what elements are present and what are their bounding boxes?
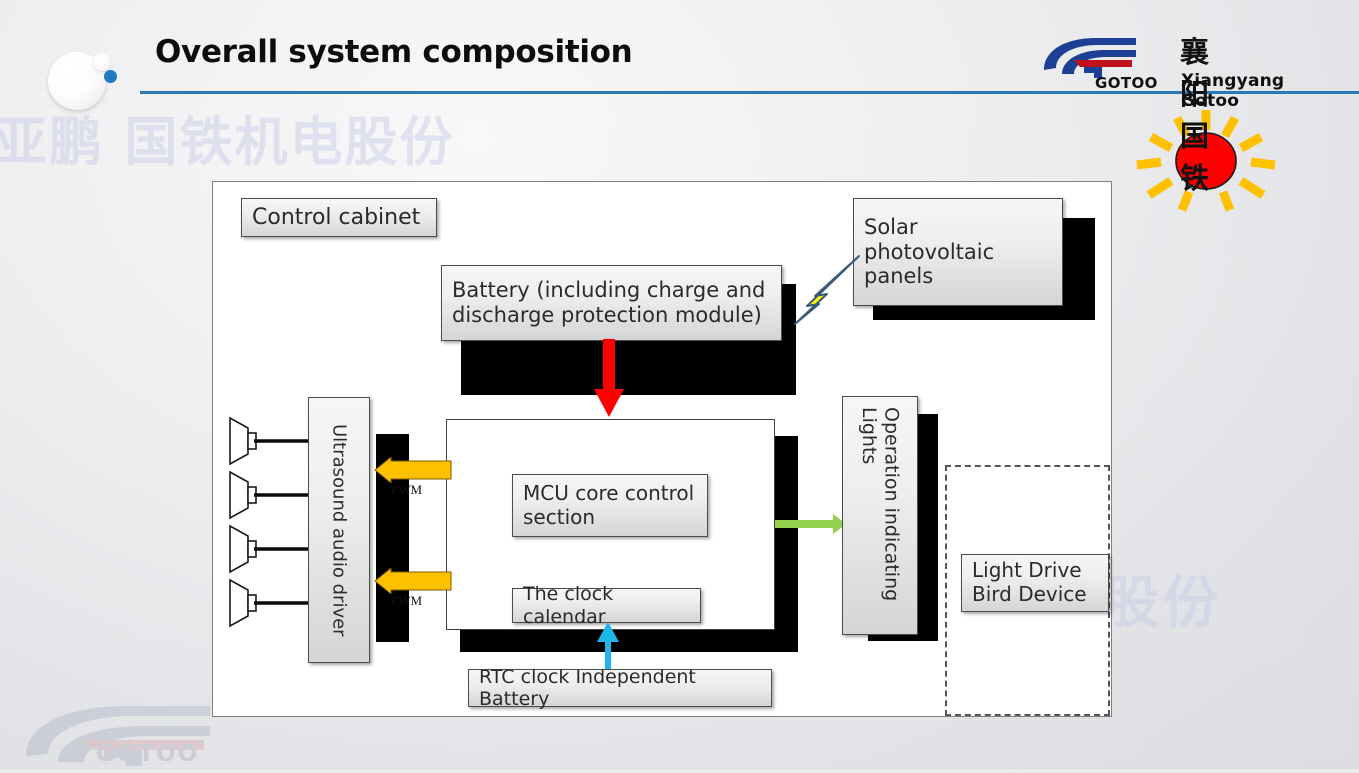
pwm-label-top: PWM — [391, 482, 422, 498]
pwm-arrow-bottom-icon — [373, 568, 453, 594]
decorative-circle-small — [93, 53, 111, 71]
pwm-arrow-top-icon — [373, 457, 453, 483]
light-drive-bird-device-box[interactable]: Light Drive Bird Device — [961, 554, 1109, 612]
lightning-bolt-icon — [783, 254, 865, 340]
battery-to-mcu-arrow-icon — [593, 339, 625, 419]
battery-label: Battery (including charge and discharge … — [442, 278, 781, 328]
clock-calendar-box[interactable]: The clock calendar — [512, 588, 701, 623]
operation-indicating-lights-label: Operation indicating Lights — [858, 397, 903, 634]
title-underline — [140, 91, 1359, 94]
operation-indicating-lights-box[interactable]: Operation indicating Lights — [842, 396, 918, 635]
watermark-top: 亚鹏 国铁机电股份 — [0, 100, 454, 176]
brand-english-name: Xiangyang Gotoo — [1181, 71, 1284, 111]
mcu-core-control-label: MCU core control section — [513, 482, 707, 529]
solar-photovoltaic-panels-box[interactable]: Solar photovoltaic panels — [853, 198, 1063, 306]
footer-gotoo-label: GOTOO — [96, 741, 199, 767]
brand-gotoo-label: GOTOO — [1095, 74, 1158, 92]
ultrasound-audio-driver-box[interactable]: Ultrasound audio driver — [308, 397, 370, 663]
rtc-independent-battery-box[interactable]: RTC clock Independent Battery — [468, 669, 772, 707]
control-cabinet-box[interactable]: Control cabinet — [241, 198, 437, 237]
page-title: Overall system composition — [155, 34, 632, 70]
brand-chinese-name: 襄阳国铁 — [1180, 29, 1215, 197]
battery-box[interactable]: Battery (including charge and discharge … — [441, 265, 782, 341]
system-diagram-frame: Ultrasound audio driver PWM PWM Control … — [212, 181, 1112, 717]
pwm-label-bottom: PWM — [391, 593, 422, 609]
footer-logo: GOTOO — [18, 700, 218, 773]
mcu-to-lights-arrow-icon — [775, 514, 847, 534]
solar-panels-label: Solar photovoltaic panels — [854, 215, 1062, 289]
control-cabinet-label: Control cabinet — [242, 205, 430, 231]
mcu-core-control-box[interactable]: MCU core control section — [512, 474, 708, 537]
decorative-dot-blue — [104, 70, 117, 83]
rtc-independent-battery-label: RTC clock Independent Battery — [469, 666, 771, 711]
ultrasound-audio-driver-label: Ultrasound audio driver — [328, 414, 349, 647]
light-drive-bird-device-label: Light Drive Bird Device — [962, 559, 1108, 606]
